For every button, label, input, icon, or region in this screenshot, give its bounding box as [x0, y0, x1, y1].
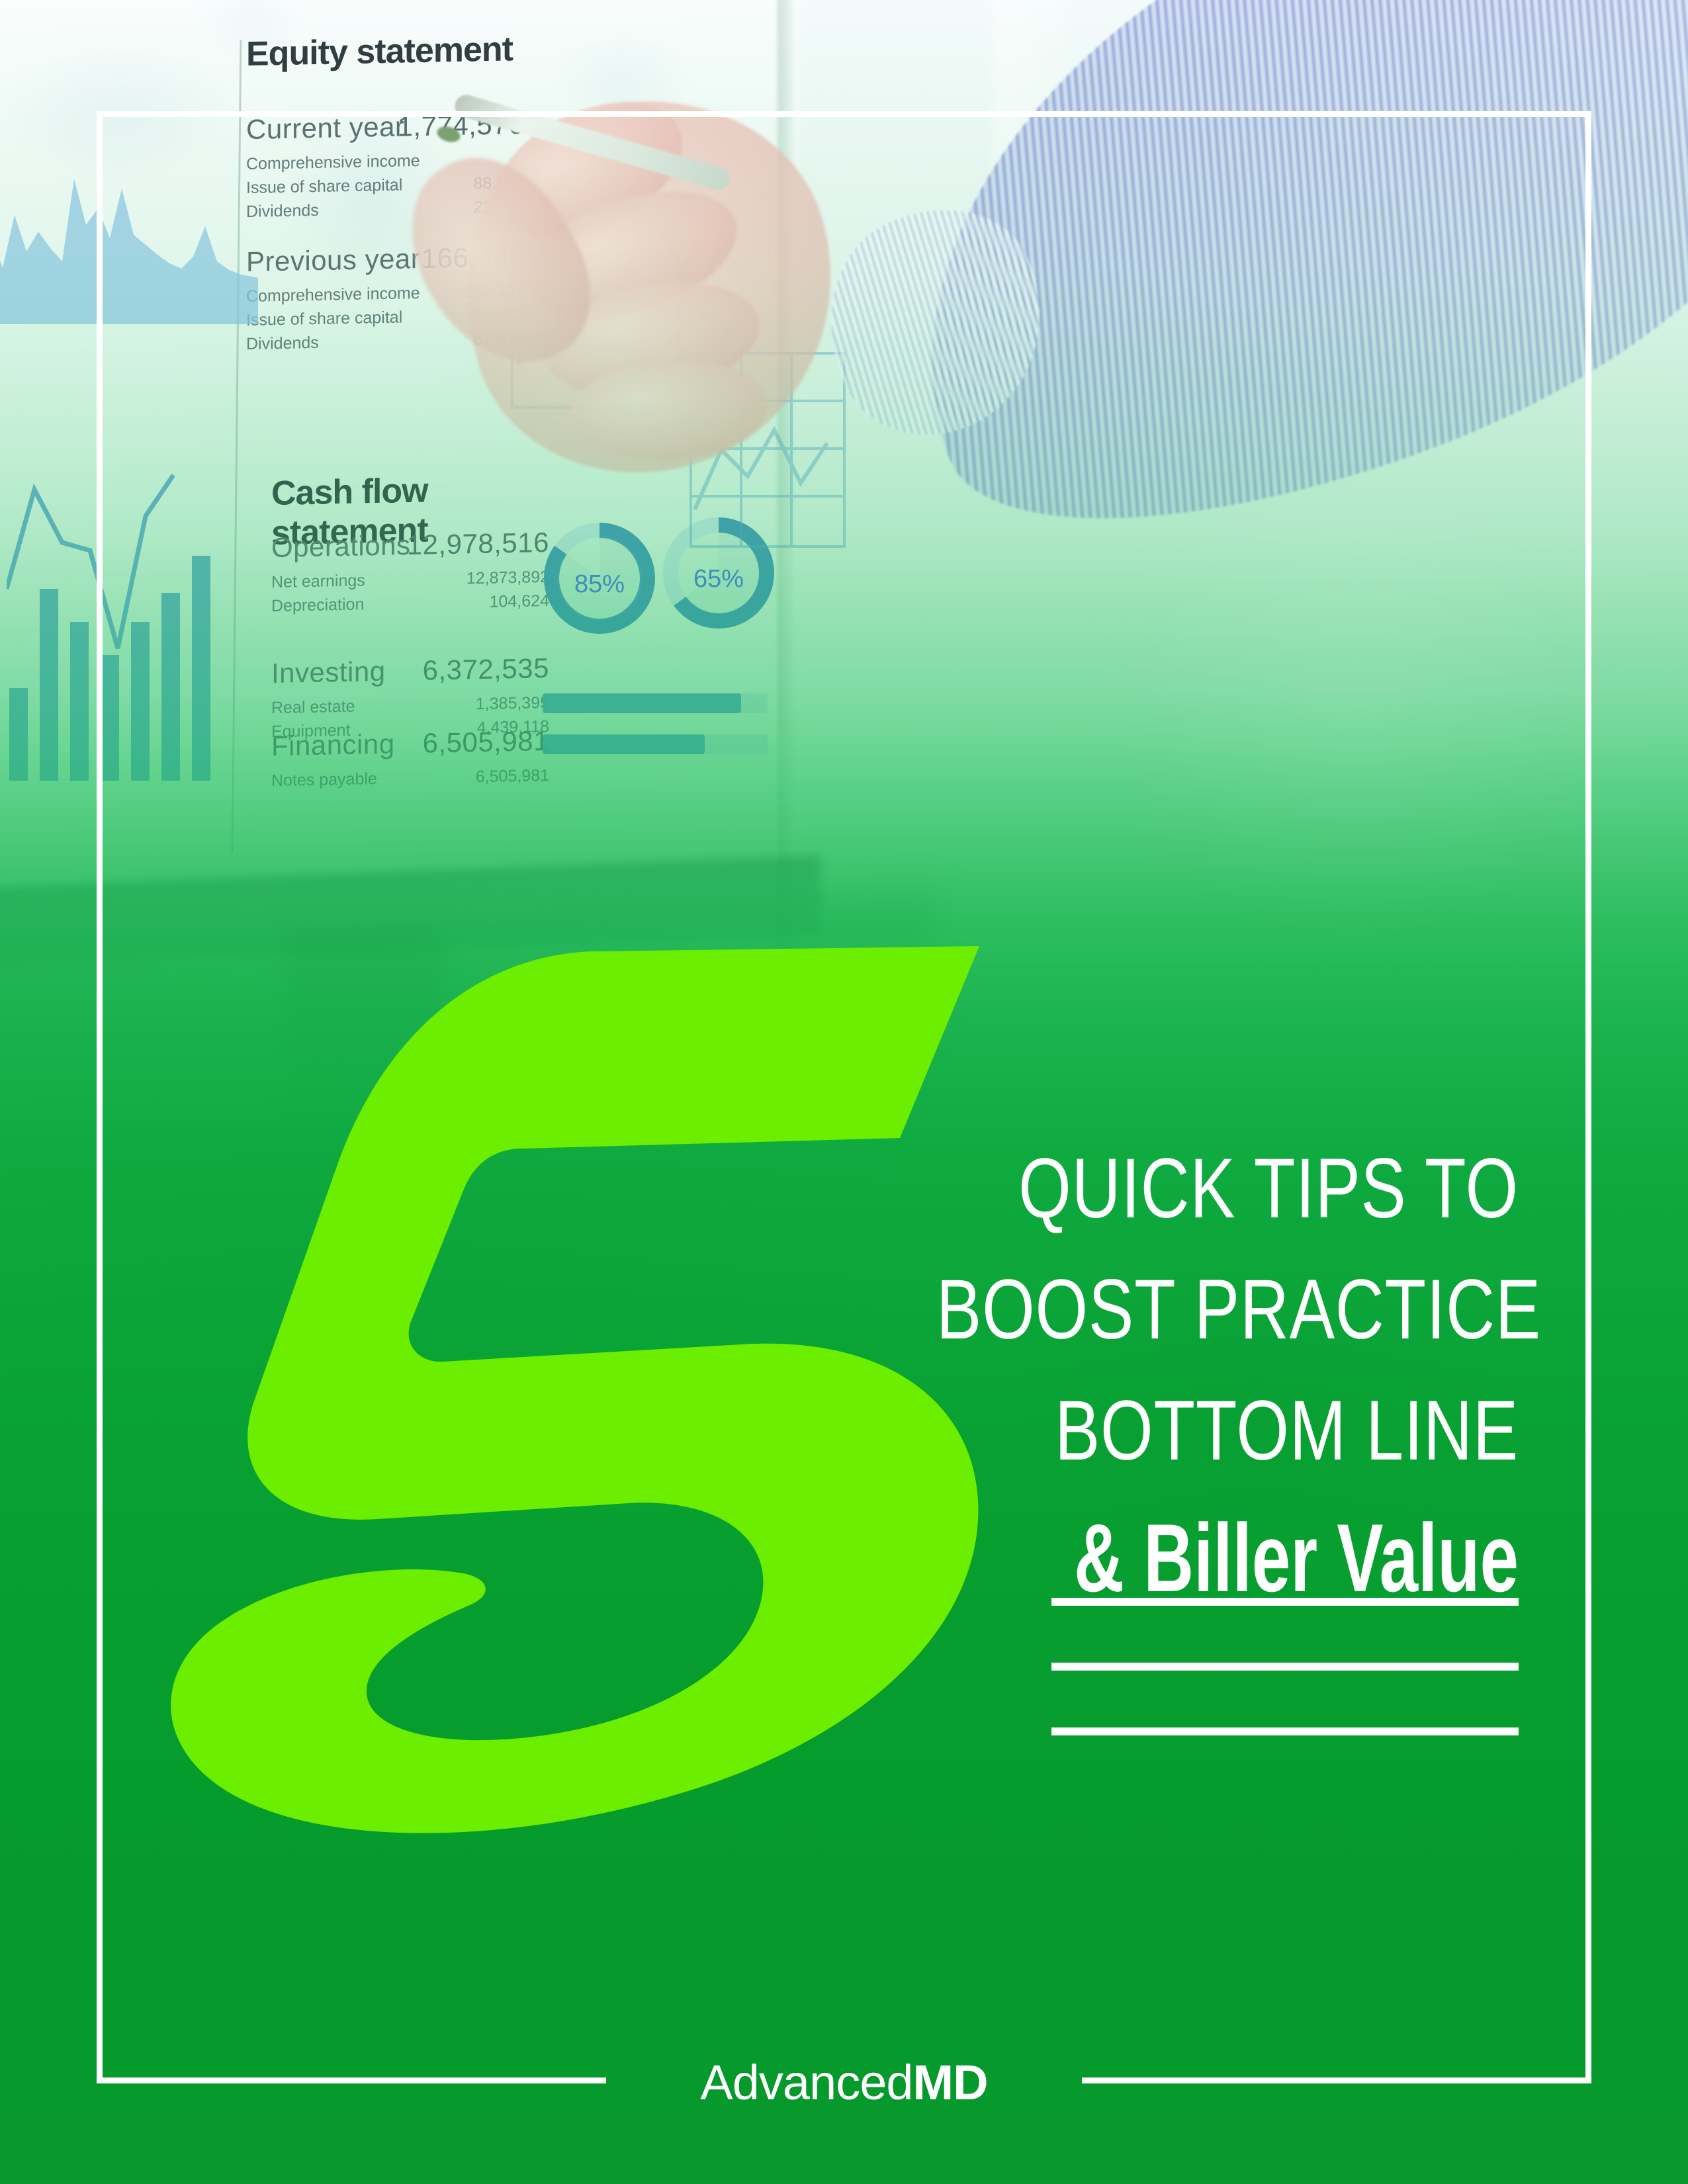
- gauge-85-label-top: 85%: [544, 570, 655, 599]
- title-rule: [1051, 1598, 1519, 1606]
- title-underline-rules: [1051, 1598, 1519, 1735]
- cover-title-block: QUICK TIPS TO BOOST PRACTICE BOTTOM LINE…: [791, 1128, 1519, 1621]
- logo-text-bold: MD: [913, 2055, 988, 2110]
- advancedmd-logo: AdvancedMD: [0, 2054, 1688, 2111]
- title-line-1: QUICK TIPS TO: [936, 1128, 1519, 1249]
- gauge-65-label-top: 65%: [663, 565, 774, 593]
- title-rule: [1051, 1663, 1519, 1671]
- title-rule: [1051, 1727, 1519, 1735]
- title-line-2: BOOST PRACTICE: [936, 1249, 1519, 1370]
- ebook-cover-page: Equity statement Current year 1,774,576 …: [0, 0, 1688, 2184]
- title-line-3: BOTTOM LINE: [936, 1370, 1519, 1491]
- logo-text-light: Advanced: [700, 2055, 912, 2110]
